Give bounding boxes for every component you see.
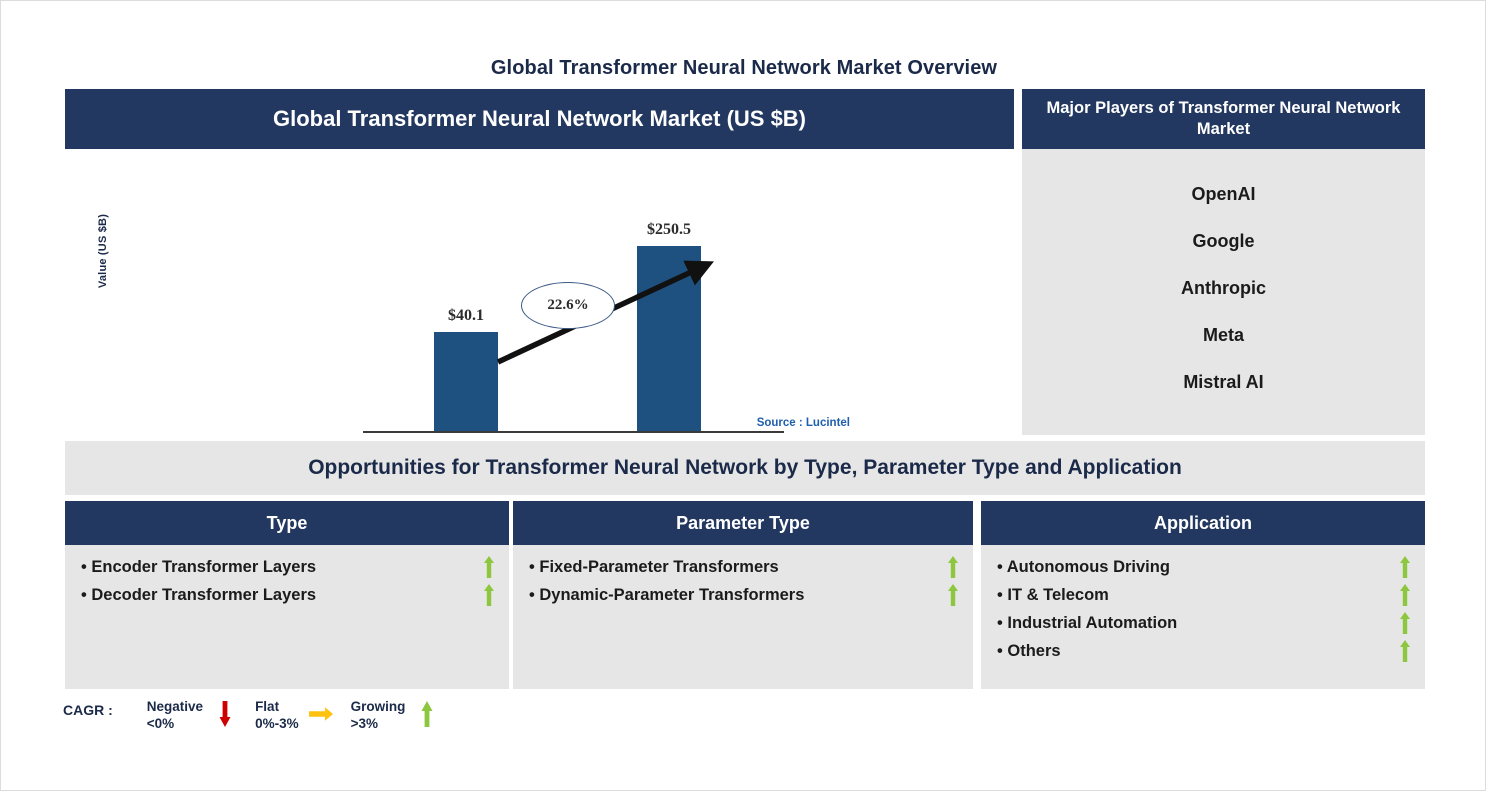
column-body-parameter-type: • Fixed-Parameter Transformers • Dynamic… (513, 545, 973, 689)
legend-name-growing: Growing (351, 699, 406, 716)
list-item: Google (1022, 218, 1425, 265)
list-item: • IT & Telecom (981, 581, 1425, 609)
list-item: • Encoder Transformer Layers (65, 553, 509, 581)
arrow-up-green-icon (483, 556, 495, 578)
cagr-bubble: 22.6% (521, 282, 615, 329)
column-header-parameter-type: Parameter Type (513, 501, 973, 545)
players-list: OpenAI Google Anthropic Meta Mistral AI (1022, 149, 1425, 435)
legend-item-negative: Negative <0% (147, 699, 245, 733)
opportunity-label: • IT & Telecom (997, 586, 1109, 605)
opportunities-column-application: Application • Autonomous Driving • IT & … (981, 501, 1425, 689)
opportunity-label: • Autonomous Driving (997, 558, 1170, 577)
opportunities-banner: Opportunities for Transformer Neural Net… (65, 441, 1425, 495)
arrow-up-green-icon (415, 699, 439, 729)
opportunity-label: • Fixed-Parameter Transformers (529, 558, 779, 577)
cagr-growth-arrow-icon (355, 219, 795, 439)
cagr-legend: CAGR : Negative <0% Flat 0%-3% Growing >… (63, 699, 457, 733)
opportunity-label: • Industrial Automation (997, 614, 1177, 633)
chart-panel-header: Global Transformer Neural Network Market… (65, 89, 1014, 149)
opportunity-label: • Decoder Transformer Layers (81, 586, 316, 605)
column-header-type: Type (65, 501, 509, 545)
arrow-up-green-icon (1399, 584, 1411, 606)
legend-text-flat: Flat 0%-3% (255, 699, 299, 733)
arrow-up-green-icon (483, 584, 495, 606)
legend-text-growing: Growing >3% (351, 699, 406, 733)
list-item: Meta (1022, 312, 1425, 359)
cagr-legend-title: CAGR : (63, 699, 113, 718)
legend-item-growing: Growing >3% (351, 699, 448, 733)
list-item: Mistral AI (1022, 359, 1425, 406)
market-chart-panel: Global Transformer Neural Network Market… (65, 89, 1014, 435)
legend-name-flat: Flat (255, 699, 299, 716)
major-players-panel: Major Players of Transformer Neural Netw… (1022, 89, 1425, 435)
list-item: • Autonomous Driving (981, 553, 1425, 581)
column-header-application: Application (981, 501, 1425, 545)
arrow-up-green-icon (947, 584, 959, 606)
list-item: • Fixed-Parameter Transformers (513, 553, 973, 581)
legend-range-growing: >3% (351, 716, 406, 733)
list-item: • Dynamic-Parameter Transformers (513, 581, 973, 609)
opportunity-label: • Encoder Transformer Layers (81, 558, 316, 577)
arrow-up-green-icon (947, 556, 959, 578)
list-item: • Industrial Automation (981, 609, 1425, 637)
page-title: Global Transformer Neural Network Market… (1, 57, 1486, 80)
arrow-up-green-icon (1399, 612, 1411, 634)
arrow-up-green-icon (1399, 556, 1411, 578)
opportunity-label: • Dynamic-Parameter Transformers (529, 586, 804, 605)
column-body-type: • Encoder Transformer Layers • Decoder T… (65, 545, 509, 689)
legend-range-flat: 0%-3% (255, 716, 299, 733)
column-body-application: • Autonomous Driving • IT & Telecom • In… (981, 545, 1425, 689)
chart-source-note: Source : Lucintel (757, 417, 850, 429)
opportunity-label: • Others (997, 642, 1061, 661)
opportunities-column-type: Type • Encoder Transformer Layers • Deco… (65, 501, 509, 689)
arrow-up-green-icon (1399, 640, 1411, 662)
opportunities-column-parameter-type: Parameter Type • Fixed-Parameter Transfo… (513, 501, 973, 689)
legend-name-negative: Negative (147, 699, 203, 716)
players-panel-header: Major Players of Transformer Neural Netw… (1022, 89, 1425, 149)
legend-range-negative: <0% (147, 716, 203, 733)
legend-item-flat: Flat 0%-3% (255, 699, 341, 733)
arrow-down-red-icon (213, 699, 237, 729)
arrow-right-yellow-icon (309, 699, 333, 729)
list-item: • Decoder Transformer Layers (65, 581, 509, 609)
bar-chart: Value (US $B) $40.1 $250.5 2026 2035 22.… (65, 149, 1014, 435)
legend-text-negative: Negative <0% (147, 699, 203, 733)
list-item: OpenAI (1022, 171, 1425, 218)
list-item: Anthropic (1022, 265, 1425, 312)
list-item: • Others (981, 637, 1425, 665)
chart-y-axis-label: Value (US $B) (97, 191, 109, 311)
